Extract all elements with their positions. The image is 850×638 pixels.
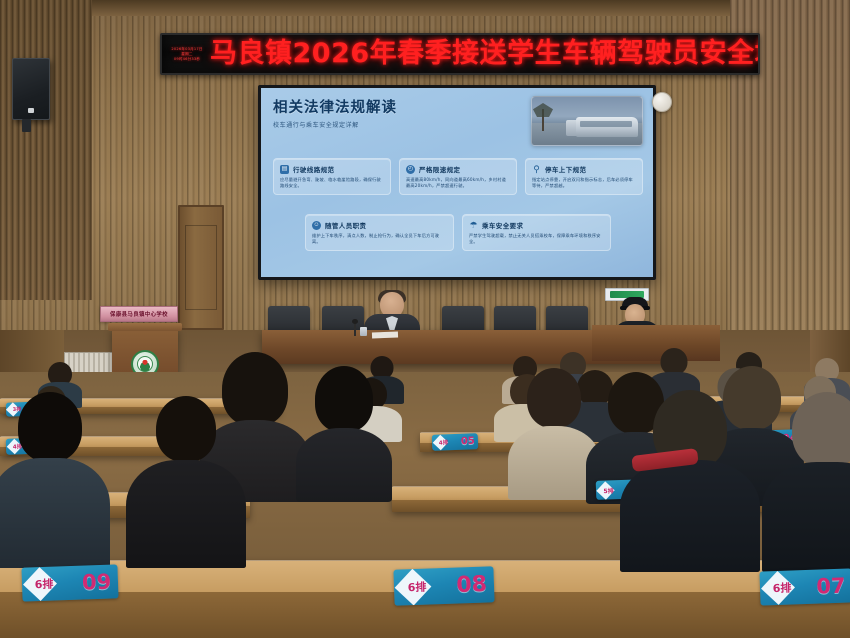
card-title: 停车上下规范 bbox=[545, 164, 586, 174]
card-title: 乘车安全要求 bbox=[482, 220, 523, 230]
placard-row-label: 6排 bbox=[766, 579, 799, 596]
projection-screen: 相关法律法规解读 校车通行与乘车安全规定详解 ▤ 行驶线路规范 应尽量避开急弯、… bbox=[261, 88, 653, 277]
slide-cards-row-top: ▤ 行驶线路规范 应尽量避开急弯、陡坡、临水临崖险路段，确保行驶路线安全。 ◴ … bbox=[273, 158, 643, 195]
placard-row-label: 4排 bbox=[436, 438, 451, 447]
emblem-inner-graphic bbox=[137, 356, 153, 372]
led-date: 2026年03月17日 bbox=[171, 47, 202, 51]
photo-roadside-tree bbox=[542, 109, 544, 131]
audience-torso bbox=[620, 460, 760, 572]
podium-banner-sign: 保康县马良镇中心学校 bbox=[100, 306, 178, 322]
audience-head bbox=[156, 396, 216, 462]
audience-member-nearest-left bbox=[0, 392, 110, 568]
left-wall-panel bbox=[0, 0, 92, 300]
audience-member-front-woman-2 bbox=[296, 366, 392, 502]
card-body: 应尽量避开急弯、陡坡、临水临崖险路段，确保行驶路线安全。 bbox=[280, 177, 384, 189]
wall-speaker bbox=[12, 58, 50, 120]
speaker-mount-bracket bbox=[22, 119, 31, 132]
audience-torso bbox=[762, 462, 850, 572]
document-sheet bbox=[372, 332, 398, 339]
slide-card-riding-safety: ☂ 乘车安全要求 严禁学生驾驶超载，禁止无关人员搭乘校车，保障乘车环境和秩序安全… bbox=[462, 214, 611, 251]
audience-head bbox=[18, 392, 82, 462]
ceiling-edge bbox=[0, 0, 850, 16]
seat-placard: 6排 07 bbox=[759, 568, 850, 605]
audience-member-nearest-right bbox=[762, 392, 850, 572]
slide-card-route: ▤ 行驶线路规范 应尽量避开急弯、陡坡、临水临崖险路段，确保行驶路线安全。 bbox=[273, 158, 391, 195]
seat-placard: 6排 08 bbox=[393, 566, 494, 605]
map-pin-icon: ⚲ bbox=[532, 165, 541, 174]
card-title: 严格限速规定 bbox=[419, 164, 460, 174]
card-title: 行驶线路规范 bbox=[293, 164, 334, 174]
photo-school-bus bbox=[576, 117, 638, 137]
card-header: ⚲ 停车上下规范 bbox=[532, 164, 636, 174]
speed-gauge-icon: ◴ bbox=[406, 165, 415, 174]
led-time: 09时46分33秒 bbox=[174, 57, 200, 61]
placard-row-label: 6排 bbox=[400, 578, 435, 595]
card-header: ☂ 乘车安全要求 bbox=[469, 220, 604, 230]
placard-seat-number: 07 bbox=[816, 574, 846, 599]
card-body: 指定站点停靠，开启双闪和指示标志，后车必须停车等待，严禁超越。 bbox=[532, 177, 636, 189]
placard-row-label: 6排 bbox=[28, 575, 61, 592]
card-body: 维护上下车秩序，清点人数，制止抢行为，确认全员下车后方可驶离。 bbox=[312, 233, 447, 245]
card-title: 随管人员职责 bbox=[325, 220, 366, 230]
audience-head bbox=[527, 368, 581, 428]
training-hall-photo: 2026年03月17日 星期二 09时46分33秒 马良镇2026年春季接送学生… bbox=[0, 0, 850, 638]
route-icon: ▤ bbox=[280, 165, 289, 174]
wall-clock bbox=[652, 92, 672, 112]
audience-member-nearest-2 bbox=[126, 396, 246, 568]
led-headline-text: 马良镇2026年春季接送学生车辆驾驶员安全培训 bbox=[210, 39, 760, 69]
led-banner: 2026年03月17日 星期二 09时46分33秒 马良镇2026年春季接送学生… bbox=[160, 33, 760, 75]
person-check-icon: ☺ bbox=[312, 221, 321, 230]
card-body: 严禁学生驾驶超载，禁止无关人员搭乘校车，保障乘车环境和秩序安全。 bbox=[469, 233, 604, 245]
card-header: ▤ 行驶线路规范 bbox=[280, 164, 384, 174]
slide-card-speed-limit: ◴ 严格限速规定 高速最高80km/h，同向道最高60km/h，乡村村道最高20… bbox=[399, 158, 517, 195]
audience-member-nearest-red-scarf bbox=[620, 390, 760, 572]
audience-torso bbox=[296, 428, 392, 502]
slide-card-attendant-duty: ☺ 随管人员职责 维护上下车秩序，清点人数，制止抢行为，确认全员下车后方可驶离。 bbox=[305, 214, 454, 251]
slide-cards-row-bottom: ☺ 随管人员职责 维护上下车秩序，清点人数，制止抢行为，确认全员下车后方可驶离。… bbox=[305, 214, 611, 251]
projection-screen-frame: 相关法律法规解读 校车通行与乘车安全规定详解 ▤ 行驶线路规范 应尽量避开急弯、… bbox=[258, 85, 656, 280]
audience-torso bbox=[126, 460, 246, 568]
podium-sign-text: 保康县马良镇中心学校 bbox=[110, 310, 168, 318]
placard-seat-number: 09 bbox=[82, 570, 112, 595]
audience-head bbox=[661, 348, 688, 375]
placard-seat-number: 08 bbox=[456, 572, 487, 598]
audience-head bbox=[315, 366, 373, 432]
card-body: 高速最高80km/h，同向道最高60km/h，乡村村道最高20km/h，严禁超速… bbox=[406, 177, 510, 189]
slide-card-stop-rules: ⚲ 停车上下规范 指定站点停靠，开启双闪和指示标志，后车必须停车等待，严禁超越。 bbox=[525, 158, 643, 195]
seat-placard: 6排 09 bbox=[21, 564, 118, 601]
placard-row-label: 5排 bbox=[600, 485, 617, 495]
presentation-slide: 相关法律法规解读 校车通行与乘车安全规定详解 ▤ 行驶线路规范 应尽量避开急弯、… bbox=[273, 96, 643, 269]
led-weekday: 星期二 bbox=[181, 52, 192, 56]
card-header: ☺ 随管人员职责 bbox=[312, 220, 447, 230]
water-cup bbox=[360, 327, 367, 336]
slide-photo-school-bus bbox=[531, 96, 643, 146]
led-datetime-block: 2026年03月17日 星期二 09时46分33秒 bbox=[162, 35, 210, 73]
seatbelt-icon: ☂ bbox=[469, 221, 478, 230]
audience-head bbox=[792, 392, 850, 468]
microphone-icon bbox=[354, 322, 356, 336]
seat-placard: 4排 05 bbox=[432, 433, 479, 451]
side-door bbox=[178, 205, 224, 330]
card-header: ◴ 严格限速规定 bbox=[406, 164, 510, 174]
podium-top-surface bbox=[108, 323, 182, 331]
placard-seat-number: 05 bbox=[461, 436, 475, 447]
audience-torso bbox=[0, 458, 110, 568]
